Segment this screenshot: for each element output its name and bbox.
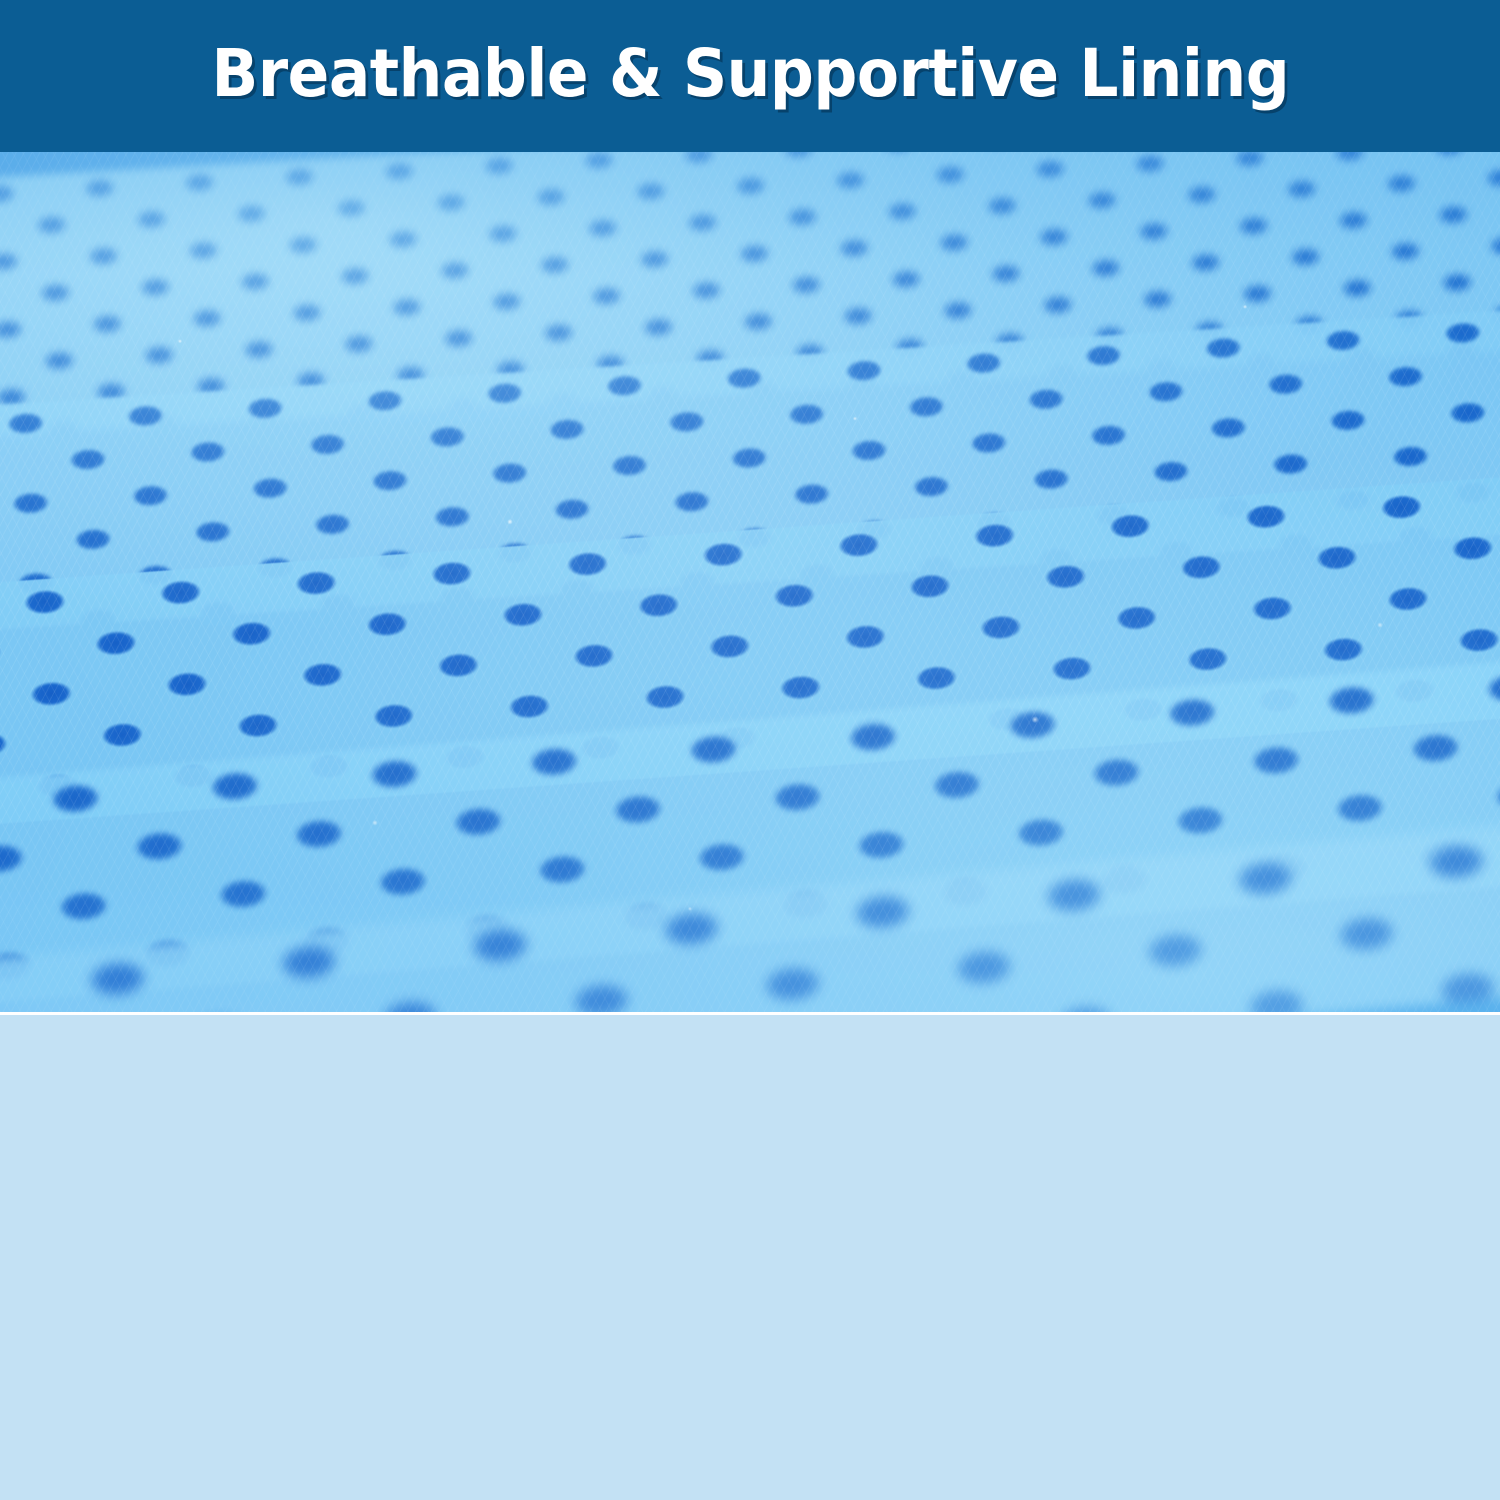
product-infographic: Breathable & Supportive Lining About the… xyxy=(0,0,1500,1500)
page-title: Breathable & Supportive Lining xyxy=(211,41,1289,107)
about-lining-panel: About the Lining: · 1/4 Inch Thick Aerat… xyxy=(0,1015,1500,1500)
photo-light-sheen xyxy=(0,152,1500,1012)
product-photo-mesh-lining xyxy=(0,152,1500,1012)
header-banner: Breathable & Supportive Lining xyxy=(0,0,1500,152)
